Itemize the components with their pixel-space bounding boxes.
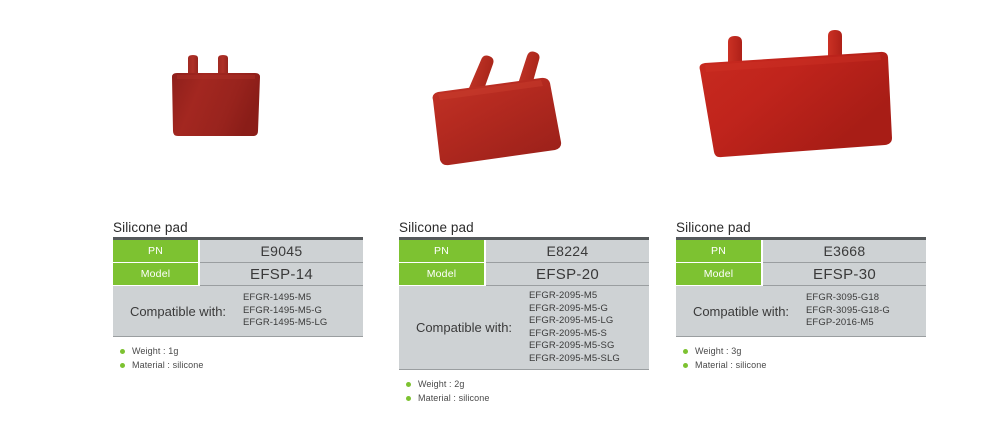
table-row-compatible: Compatible with: EFGR-1495-M5EFGR-1495-M…	[113, 286, 363, 337]
compatible-list: EFGR-1495-M5EFGR-1495-M5-GEFGR-1495-M5-L…	[243, 292, 363, 330]
silicone-pad-photo-efsp-20	[421, 48, 581, 178]
compatible-list: EFGR-3095-G18EFGR-3095-G18-GEFGP-2016-M5	[806, 292, 926, 330]
table-row-model: Model EFSP-20	[399, 263, 649, 286]
list-item: Weight : 2g	[406, 377, 649, 391]
row-label-model: Model	[676, 263, 762, 286]
compatible-item: EFGR-2095-M5	[529, 290, 649, 303]
bullet-text-weight: Weight : 3g	[695, 346, 741, 356]
row-label-model: Model	[399, 263, 485, 286]
bullet-text-material: Material : silicone	[418, 393, 489, 403]
block-title: Silicone pad	[113, 220, 363, 237]
compatible-item: EFGP-2016-M5	[806, 317, 926, 330]
compatible-item: EFGR-3095-G18-G	[806, 305, 926, 318]
row-label-pn: PN	[676, 239, 762, 263]
compatible-item: EFGR-2095-M5-S	[529, 328, 649, 341]
row-label-pn: PN	[113, 239, 199, 263]
product-card-3: Silicone pad PN E3668 Model EFSP-30 Comp…	[676, 0, 926, 372]
row-value-pn: E3668	[762, 239, 926, 263]
list-item: Weight : 1g	[120, 344, 363, 358]
list-item: Material : silicone	[683, 358, 926, 372]
pad-prong-right	[218, 55, 228, 75]
compatible-item: EFGR-1495-M5-G	[243, 305, 363, 318]
product-photo-2	[399, 0, 649, 220]
bullet-dot-icon	[406, 382, 411, 387]
compatible-list: EFGR-2095-M5EFGR-2095-M5-GEFGR-2095-M5-L…	[529, 290, 649, 365]
block-title: Silicone pad	[676, 220, 926, 237]
pad-prong-left	[188, 55, 198, 75]
bullet-dot-icon	[683, 349, 688, 354]
row-value-model: EFSP-14	[199, 263, 363, 286]
table-row-pn: PN E9045	[113, 239, 363, 263]
compatible-item: EFGR-2095-M5-SG	[529, 340, 649, 353]
bullet-list: Weight : 3g Material : silicone	[676, 344, 926, 372]
bullet-text-material: Material : silicone	[132, 360, 203, 370]
list-item: Weight : 3g	[683, 344, 926, 358]
spec-table: PN E8224 Model EFSP-20 Compatible with: …	[399, 237, 649, 370]
row-value-model: EFSP-20	[485, 263, 649, 286]
bullet-list: Weight : 2g Material : silicone	[399, 377, 649, 405]
silicone-pad-photo-efsp-30	[694, 30, 904, 180]
table-row-model: Model EFSP-14	[113, 263, 363, 286]
table-row-compatible: Compatible with: EFGR-3095-G18EFGR-3095-…	[676, 286, 926, 337]
product-card-2: Silicone pad PN E8224 Model EFSP-20 Comp…	[399, 0, 649, 405]
bullet-list: Weight : 1g Material : silicone	[113, 344, 363, 372]
compatible-item: EFGR-2095-M5-LG	[529, 315, 649, 328]
table-row-pn: PN E3668	[676, 239, 926, 263]
compatible-item: EFGR-1495-M5-LG	[243, 317, 363, 330]
row-value-pn: E8224	[485, 239, 649, 263]
product-photo-1	[113, 0, 363, 220]
row-label-model: Model	[113, 263, 199, 286]
silicone-pad-photo-efsp-14	[169, 55, 309, 165]
pad-body	[172, 73, 260, 136]
list-item: Material : silicone	[406, 391, 649, 405]
bullet-dot-icon	[120, 349, 125, 354]
table-row-model: Model EFSP-30	[676, 263, 926, 286]
bullet-text-material: Material : silicone	[695, 360, 766, 370]
bullet-dot-icon	[120, 363, 125, 368]
bullet-dot-icon	[683, 363, 688, 368]
compatible-label: Compatible with:	[676, 304, 806, 319]
compatible-label: Compatible with:	[399, 320, 529, 335]
compatible-item: EFGR-2095-M5-SLG	[529, 353, 649, 366]
row-value-pn: E9045	[199, 239, 363, 263]
list-item: Material : silicone	[120, 358, 363, 372]
pad-highlight	[177, 75, 255, 79]
row-label-pn: PN	[399, 239, 485, 263]
product-card-1: Silicone pad PN E9045 Model EFSP-14 Comp…	[113, 0, 363, 372]
product-photo-3	[676, 0, 926, 220]
spec-table: PN E3668 Model EFSP-30 Compatible with: …	[676, 237, 926, 337]
block-title: Silicone pad	[399, 220, 649, 237]
table-row-pn: PN E8224	[399, 239, 649, 263]
compatible-item: EFGR-3095-G18	[806, 292, 926, 305]
bullet-text-weight: Weight : 2g	[418, 379, 464, 389]
compatible-item: EFGR-1495-M5	[243, 292, 363, 305]
bullet-dot-icon	[406, 396, 411, 401]
bullet-text-weight: Weight : 1g	[132, 346, 178, 356]
compatible-item: EFGR-2095-M5-G	[529, 303, 649, 316]
row-value-model: EFSP-30	[762, 263, 926, 286]
table-row-compatible: Compatible with: EFGR-2095-M5EFGR-2095-M…	[399, 286, 649, 370]
compatible-label: Compatible with:	[113, 304, 243, 319]
spec-table: PN E9045 Model EFSP-14 Compatible with: …	[113, 237, 363, 337]
